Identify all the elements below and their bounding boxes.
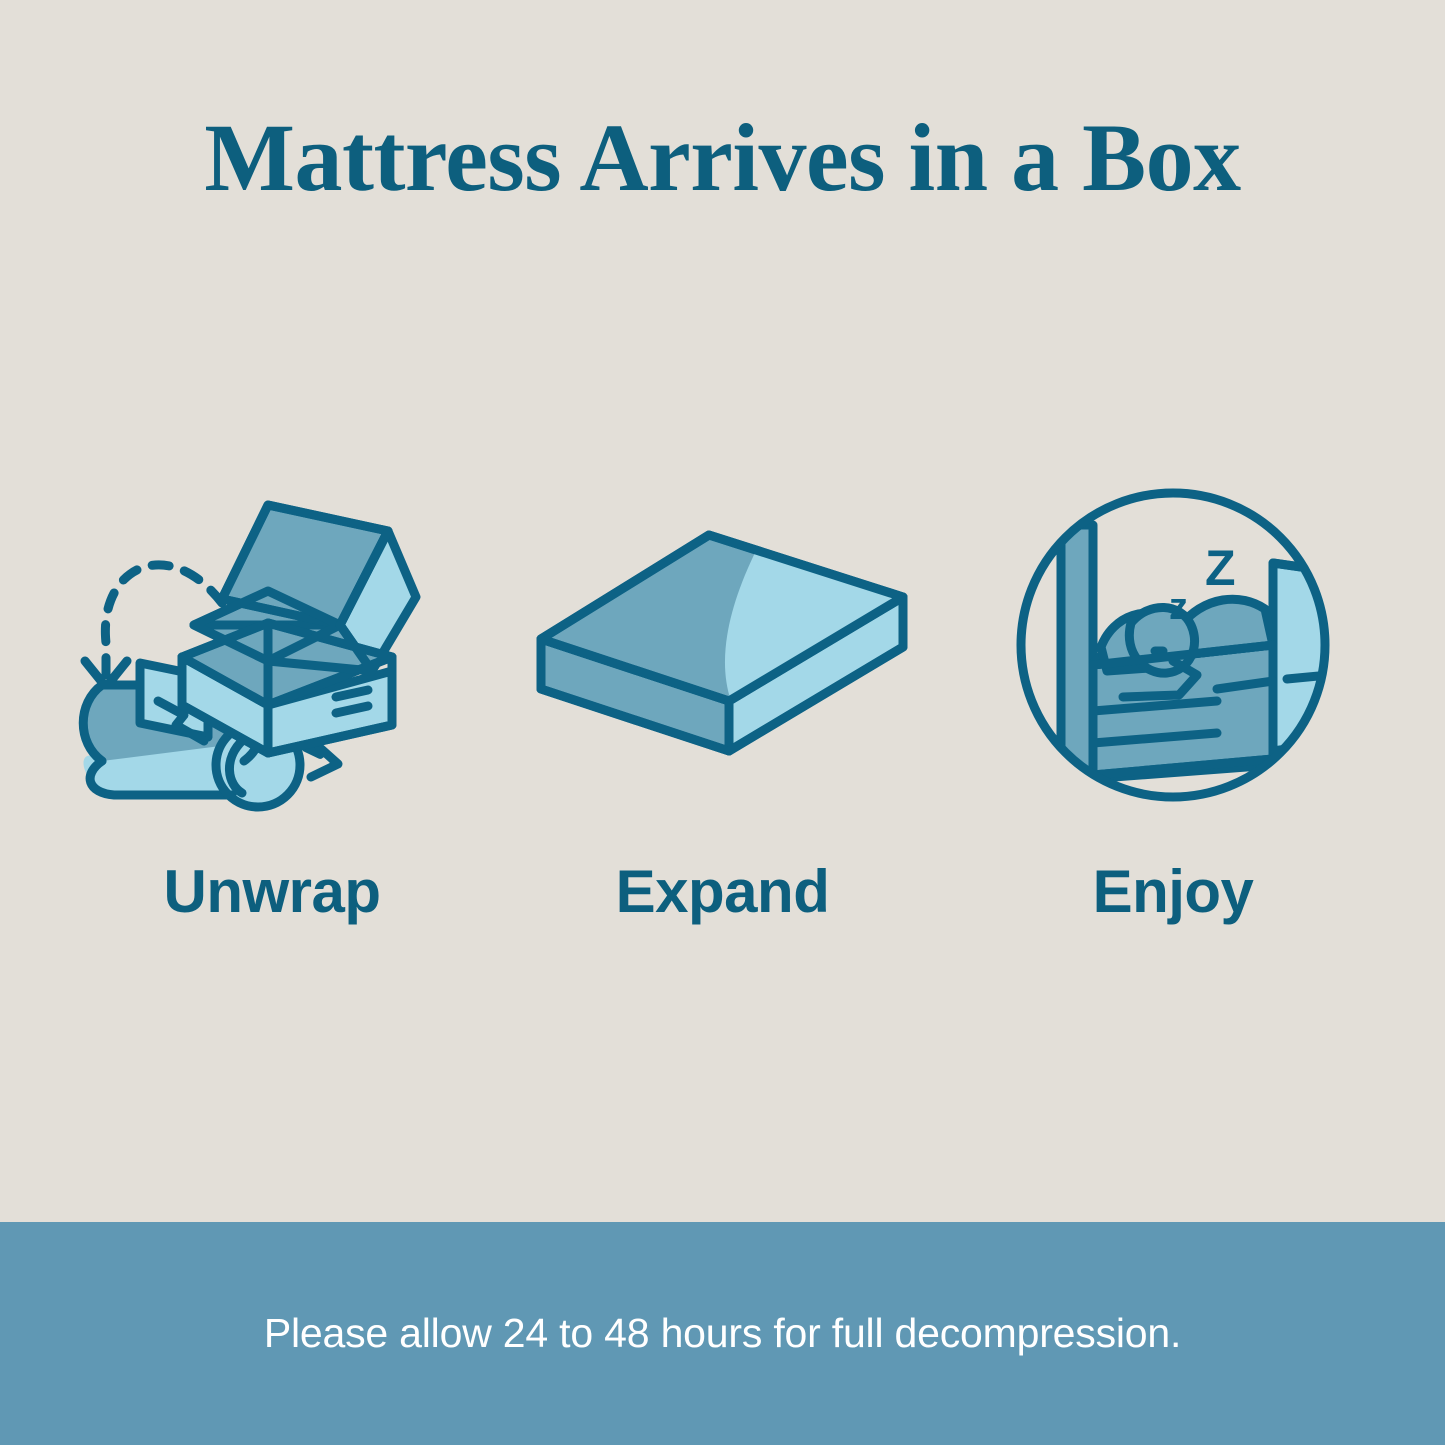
sleep-z-large-icon: Z — [1205, 540, 1236, 596]
step-expand: Expand — [523, 470, 923, 970]
sleep-z-small-icon: z — [1169, 586, 1188, 628]
person-sleeping-in-bed-circle-icon: Z z — [973, 475, 1373, 815]
step-enjoy: Z z Enjoy — [973, 470, 1373, 970]
infographic-page: Mattress Arrives in a Box — [0, 0, 1445, 1445]
footer-note: Please allow 24 to 48 hours for full dec… — [264, 1310, 1181, 1357]
step-label-enjoy: Enjoy — [1093, 862, 1254, 922]
step-unwrap: Unwrap — [72, 470, 472, 970]
footer-band: Please allow 24 to 48 hours for full dec… — [0, 1222, 1445, 1445]
unwrap-art — [72, 470, 472, 820]
step-label-unwrap: Unwrap — [163, 862, 380, 922]
flat-mattress-slab-icon — [523, 475, 923, 815]
box-with-rolled-mattress-icon — [72, 475, 472, 815]
steps-row: Unwrap — [0, 470, 1445, 970]
page-title: Mattress Arrives in a Box — [0, 108, 1445, 209]
expand-art — [523, 470, 923, 820]
step-label-expand: Expand — [616, 862, 830, 922]
enjoy-art: Z z — [973, 470, 1373, 820]
